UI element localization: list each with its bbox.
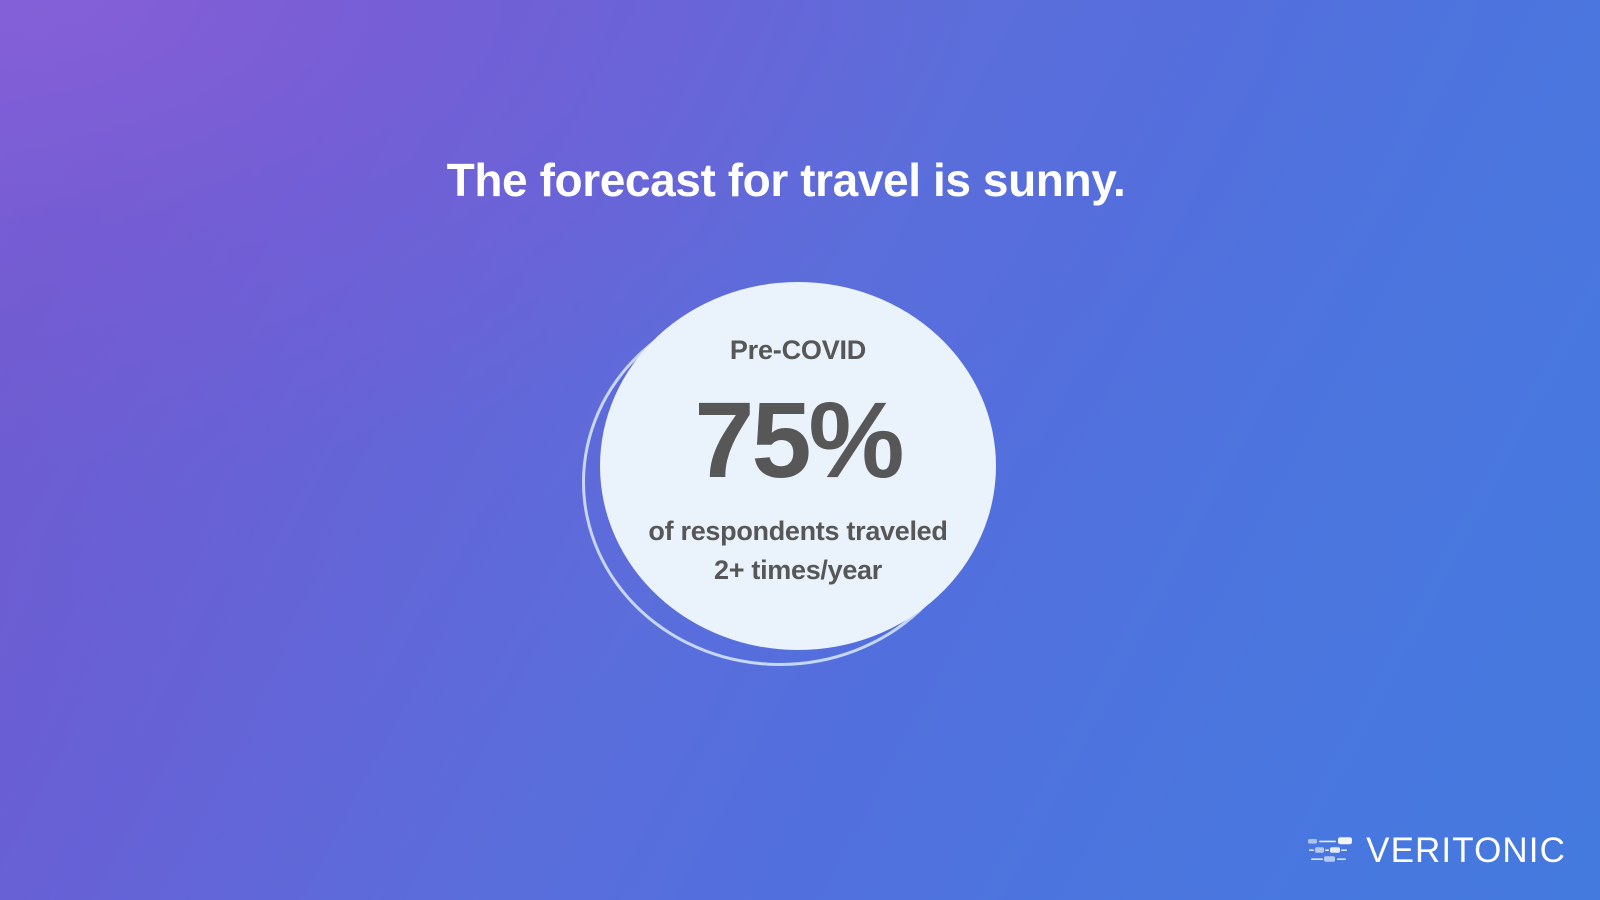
stat-circle: Pre-COVID 75% of respondents traveled 2+… [566,268,1006,678]
page-title: The forecast for travel is sunny. [0,155,1572,207]
infographic-slide: The forecast for travel is sunny. Pre-CO… [0,0,1600,900]
veritonic-sliders-mark [1308,836,1356,866]
stat-caption: of respondents traveled 2+ times/year [648,512,947,589]
stat-eyebrow-label: Pre-COVID [730,337,866,364]
stat-value: 75% [694,386,901,494]
veritonic-logo: VERITONIC [1308,833,1566,868]
stat-circle-content: Pre-COVID 75% of respondents traveled 2+… [600,282,996,650]
stat-caption-line-2: 2+ times/year [648,551,947,589]
veritonic-wordmark: VERITONIC [1366,833,1566,868]
stat-caption-line-1: of respondents traveled [648,512,947,550]
